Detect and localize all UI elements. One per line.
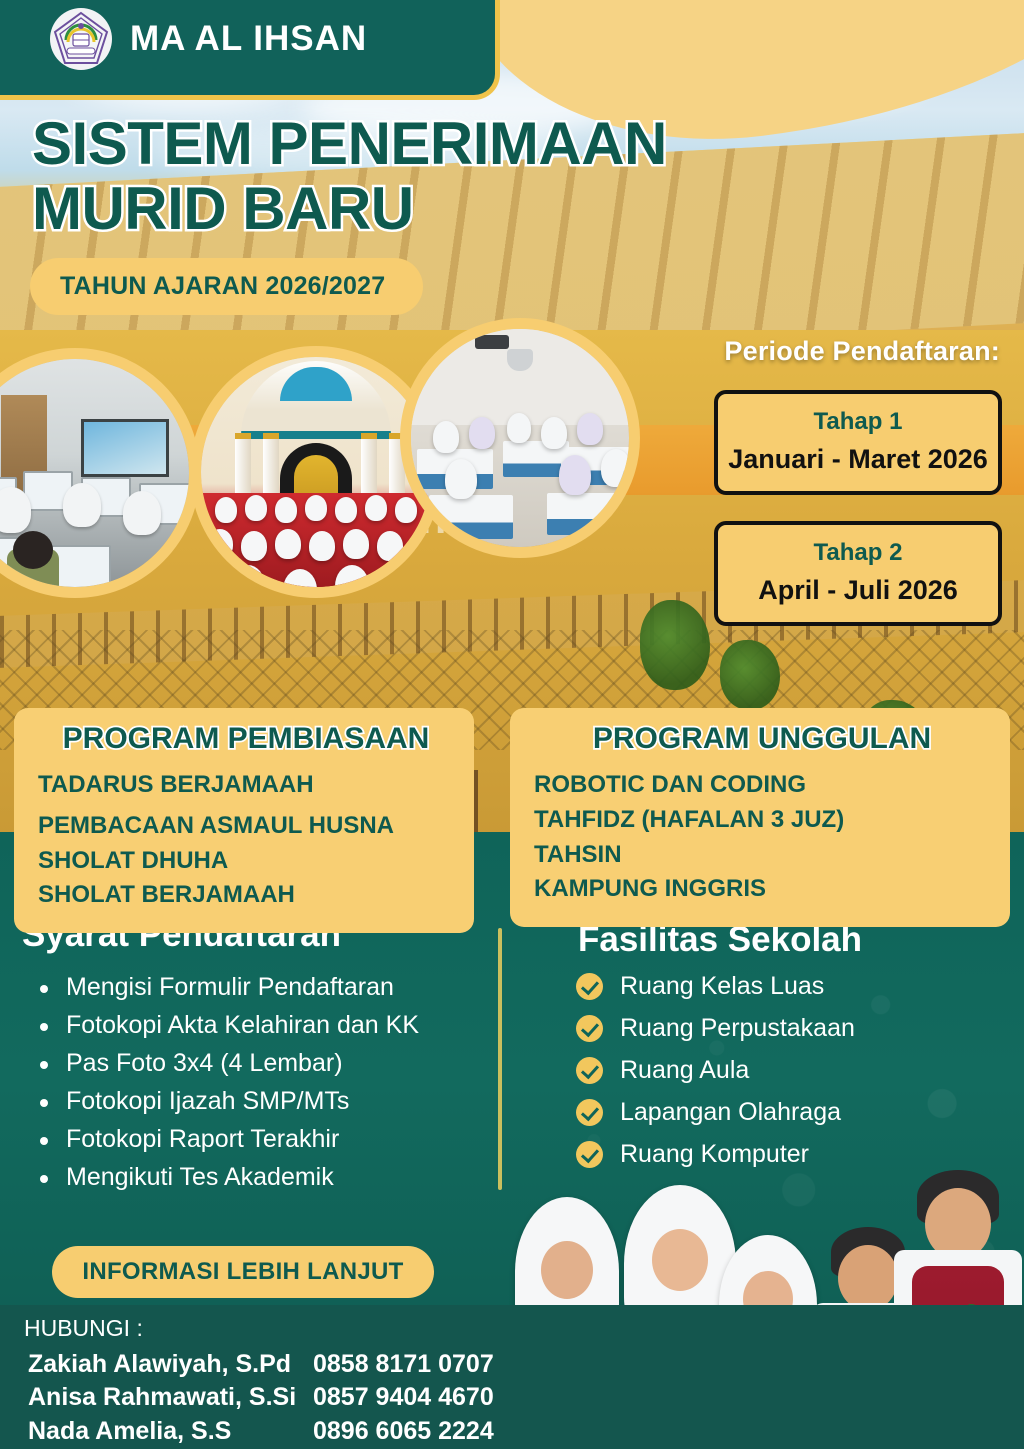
period-stage-1-card: Tahap 1 Januari - Maret 2026: [714, 390, 1002, 495]
contact-phone[interactable]: 0858 8171 0707: [313, 1348, 494, 1381]
computer-lab-photo: [0, 348, 200, 598]
facility-item: Lapangan Olahraga: [576, 1098, 855, 1127]
program-pembiasaan-item: TADARUS BERJAMAAH: [38, 768, 454, 803]
period-stage-1-range: Januari - Maret 2026: [728, 444, 988, 475]
program-pembiasaan-card: PROGRAM PEMBIASAAN TADARUS BERJAMAAH PEM…: [14, 708, 474, 933]
contact-name: Anisa Rahmawati, S.Si: [28, 1381, 313, 1414]
school-name: MA AL IHSAN: [130, 19, 367, 59]
classroom-exam-photo: [400, 318, 640, 558]
program-unggulan-item: TAHSIN: [534, 838, 990, 873]
program-unggulan-item: ROBOTIC DAN CODING: [534, 768, 990, 803]
contact-row: Anisa Rahmawati, S.Si 0857 9404 4670: [28, 1381, 494, 1414]
facility-label: Ruang Komputer: [620, 1140, 809, 1169]
facility-label: Ruang Perpustakaan: [620, 1014, 855, 1043]
contact-row: Nada Amelia, S.S 0896 6065 2224: [28, 1415, 494, 1448]
check-circle-icon: [576, 1099, 603, 1126]
poster-root: IHSAN MA AL IHSAN SISTEM PENERIMAAN MURI…: [0, 0, 1024, 1449]
contact-name: Zakiah Alawiyah, S.Pd: [28, 1348, 313, 1381]
page-title: SISTEM PENERIMAAN MURID BARU: [32, 112, 667, 242]
madrasah-emblem-icon: [50, 8, 112, 70]
contact-row: Zakiah Alawiyah, S.Pd 0858 8171 0707: [28, 1348, 494, 1381]
program-unggulan-heading: PROGRAM UNGGULAN: [534, 722, 990, 756]
requirement-item: Pas Foto 3x4 (4 Lembar): [30, 1044, 419, 1082]
facilities-list: Ruang Kelas Luas Ruang Perpustakaan Ruan…: [576, 972, 855, 1182]
facility-label: Ruang Kelas Luas: [620, 972, 824, 1001]
facility-label: Lapangan Olahraga: [620, 1098, 841, 1127]
requirement-item: Fotokopi Akta Kelahiran dan KK: [30, 1006, 419, 1044]
program-unggulan-item: TAHFIDZ (HAFALAN 3 JUZ): [534, 803, 990, 838]
academic-year-badge: TAHUN AJARAN 2026/2027: [30, 258, 423, 315]
title-line-2: MURID BARU: [32, 177, 667, 242]
program-pembiasaan-heading: PROGRAM PEMBIASAAN: [38, 722, 454, 756]
section-divider: [498, 928, 502, 1190]
check-circle-icon: [576, 1057, 603, 1084]
contact-phone[interactable]: 0896 6065 2224: [313, 1415, 494, 1448]
facility-item: Ruang Komputer: [576, 1140, 855, 1169]
program-pembiasaan-item: PEMBACAAN ASMAUL HUSNA: [38, 809, 454, 844]
program-pembiasaan-item: SHOLAT DHUHA: [38, 844, 454, 879]
facility-item: Ruang Perpustakaan: [576, 1014, 855, 1043]
contact-list: Zakiah Alawiyah, S.Pd 0858 8171 0707 Ani…: [28, 1348, 494, 1448]
requirement-item: Mengikuti Tes Akademik: [30, 1158, 419, 1196]
period-stage-2-title: Tahap 2: [728, 539, 988, 567]
contact-label: HUBUNGI :: [24, 1315, 143, 1342]
header-bar: MA AL IHSAN: [0, 0, 500, 100]
requirement-item: Mengisi Formulir Pendaftaran: [30, 968, 419, 1006]
title-line-1: SISTEM PENERIMAAN: [32, 112, 667, 177]
more-info-button[interactable]: INFORMASI LEBIH LANJUT: [52, 1246, 434, 1298]
contact-phone[interactable]: 0857 9404 4670: [313, 1381, 494, 1414]
program-unggulan-card: PROGRAM UNGGULAN ROBOTIC DAN CODING TAHF…: [510, 708, 1010, 927]
facility-label: Ruang Aula: [620, 1056, 749, 1085]
check-circle-icon: [576, 973, 603, 1000]
program-pembiasaan-item: SHOLAT BERJAMAAH: [38, 878, 454, 913]
check-circle-icon: [576, 1015, 603, 1042]
requirement-item: Fotokopi Raport Terakhir: [30, 1120, 419, 1158]
check-circle-icon: [576, 1141, 603, 1168]
requirement-item: Fotokopi Ijazah SMP/MTs: [30, 1082, 419, 1120]
contact-name: Nada Amelia, S.S: [28, 1415, 313, 1448]
requirements-list: Mengisi Formulir Pendaftaran Fotokopi Ak…: [30, 968, 419, 1196]
facility-item: Ruang Kelas Luas: [576, 972, 855, 1001]
program-unggulan-item: KAMPUNG INGGRIS: [534, 872, 990, 907]
period-stage-2-range: April - Juli 2026: [728, 575, 988, 606]
period-stage-1-title: Tahap 1: [728, 408, 988, 436]
period-stage-2-card: Tahap 2 April - Juli 2026: [714, 521, 1002, 626]
registration-period-label: Periode Pendaftaran:: [724, 336, 1000, 367]
facility-item: Ruang Aula: [576, 1056, 855, 1085]
